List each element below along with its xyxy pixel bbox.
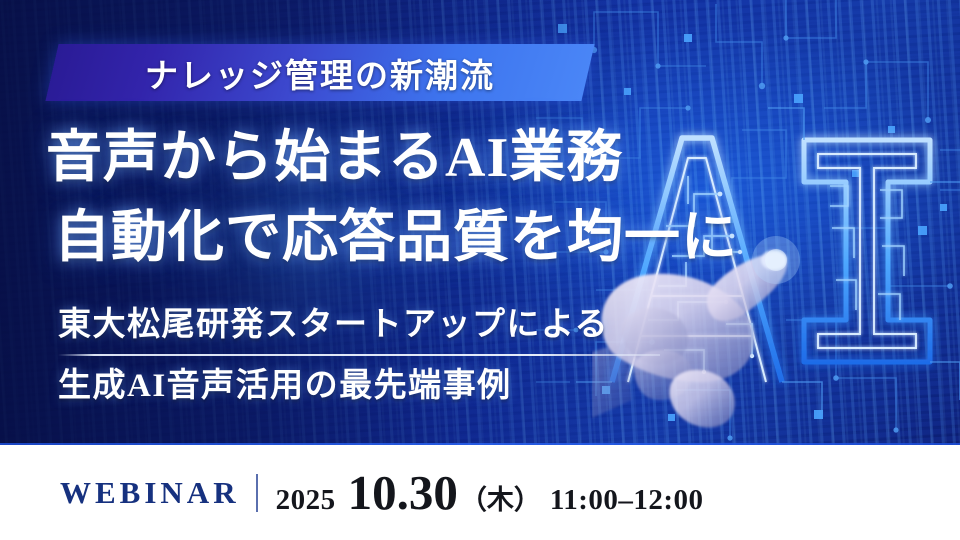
date-monthday: 10.30 (348, 464, 458, 521)
subtitle-divider (58, 354, 660, 356)
subtitle: 東大松尾研発スタートアップによる 生成AI音声活用の最先端事例 (58, 300, 698, 411)
webinar-label: WEBINAR (60, 475, 240, 511)
footer-separator (256, 474, 258, 512)
headline-line-2: 自動化で応答品質を均一に (54, 198, 836, 278)
date-time: 11:00–12:00 (550, 484, 704, 517)
date-dayofweek: （木） (460, 478, 541, 517)
headline-line-1: 音声から始まるAI業務 (46, 118, 836, 198)
badge-label: ナレッジ管理の新潮流 (52, 44, 588, 101)
subtitle-line-2: 生成AI音声活用の最先端事例 (58, 361, 698, 411)
footer-content: WEBINAR 2025 10.30 （木） 11:00–12:00 (60, 445, 704, 540)
webinar-banner: ナレッジ管理の新潮流 音声から始まるAI業務 自動化で応答品質を均一に 東大松尾… (0, 0, 960, 540)
date-year: 2025 (276, 484, 336, 517)
footer-bar: WEBINAR 2025 10.30 （木） 11:00–12:00 マジ セミ (0, 445, 960, 540)
headline: 音声から始まるAI業務 自動化で応答品質を均一に (46, 118, 836, 278)
subtitle-line-1: 東大松尾研発スタートアップによる (58, 300, 698, 350)
category-badge: ナレッジ管理の新潮流 (52, 44, 588, 101)
hero-background: ナレッジ管理の新潮流 音声から始まるAI業務 自動化で応答品質を均一に 東大松尾… (0, 0, 960, 445)
webinar-datetime: 2025 10.30 （木） 11:00–12:00 (276, 464, 704, 521)
